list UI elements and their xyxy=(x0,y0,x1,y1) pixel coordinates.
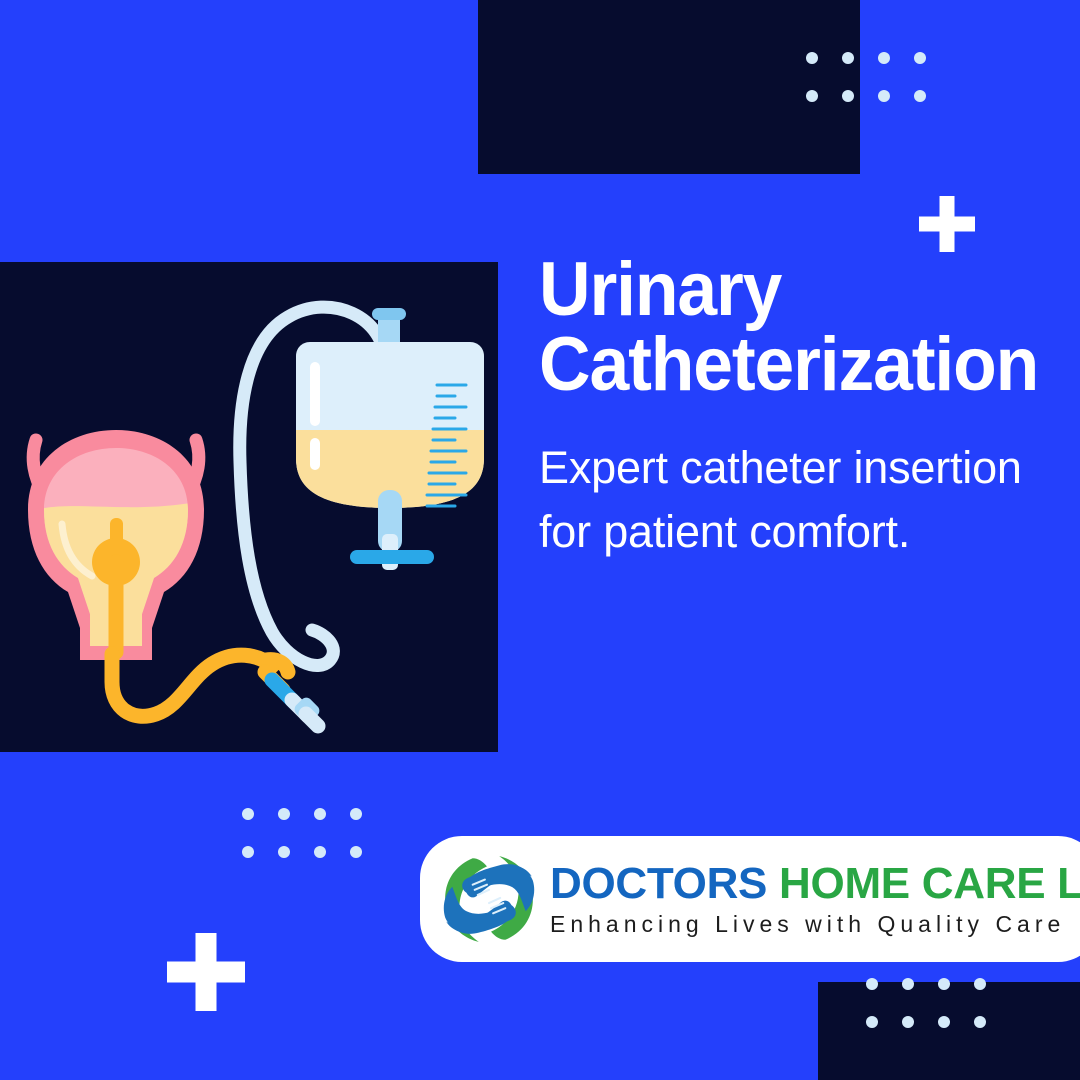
bag-inlet-collar xyxy=(372,308,406,320)
brand-tagline: Enhancing Lives with Quality Care xyxy=(550,911,1080,938)
brand-name: DOCTORS HOME CARE LTD xyxy=(550,862,1080,906)
bag-highlight-upper xyxy=(310,362,320,426)
plus-icon-top-right xyxy=(919,196,975,252)
dot-grid-bottom-left xyxy=(242,808,362,858)
two-hands-circle-logo xyxy=(438,848,540,950)
brand-logo-card: DOCTORS HOME CARE LTD Enhancing Lives wi… xyxy=(420,836,1080,962)
poster-canvas: Urinary Catheterization Expert catheter … xyxy=(0,0,1080,1080)
page-subtitle: Expert catheter insertion for patient co… xyxy=(539,402,1059,564)
catheter-tube xyxy=(112,654,272,716)
brand-name-secondary: HOME CARE LTD xyxy=(779,859,1080,908)
bag-drain-valve xyxy=(350,550,434,564)
bladder-group xyxy=(28,430,204,662)
illustration-panel xyxy=(0,262,498,752)
plus-icon-bottom-left xyxy=(167,933,245,1011)
brand-name-space xyxy=(767,859,779,908)
brand-name-primary: DOCTORS xyxy=(550,859,767,908)
catheter-connector xyxy=(265,672,322,726)
urine-drainage-bag xyxy=(292,308,492,570)
dot-grid-bottom-right xyxy=(866,978,986,1028)
text-column: Urinary Catheterization Expert catheter … xyxy=(539,252,1059,564)
page-title: Urinary Catheterization xyxy=(539,252,1028,402)
navy-block-top xyxy=(478,0,860,174)
brand-text-block: DOCTORS HOME CARE LTD Enhancing Lives wi… xyxy=(550,860,1080,938)
urinary-catheterization-illustration xyxy=(0,262,498,752)
dot-grid-top-right xyxy=(806,52,926,102)
bag-highlight-lower xyxy=(310,438,320,470)
